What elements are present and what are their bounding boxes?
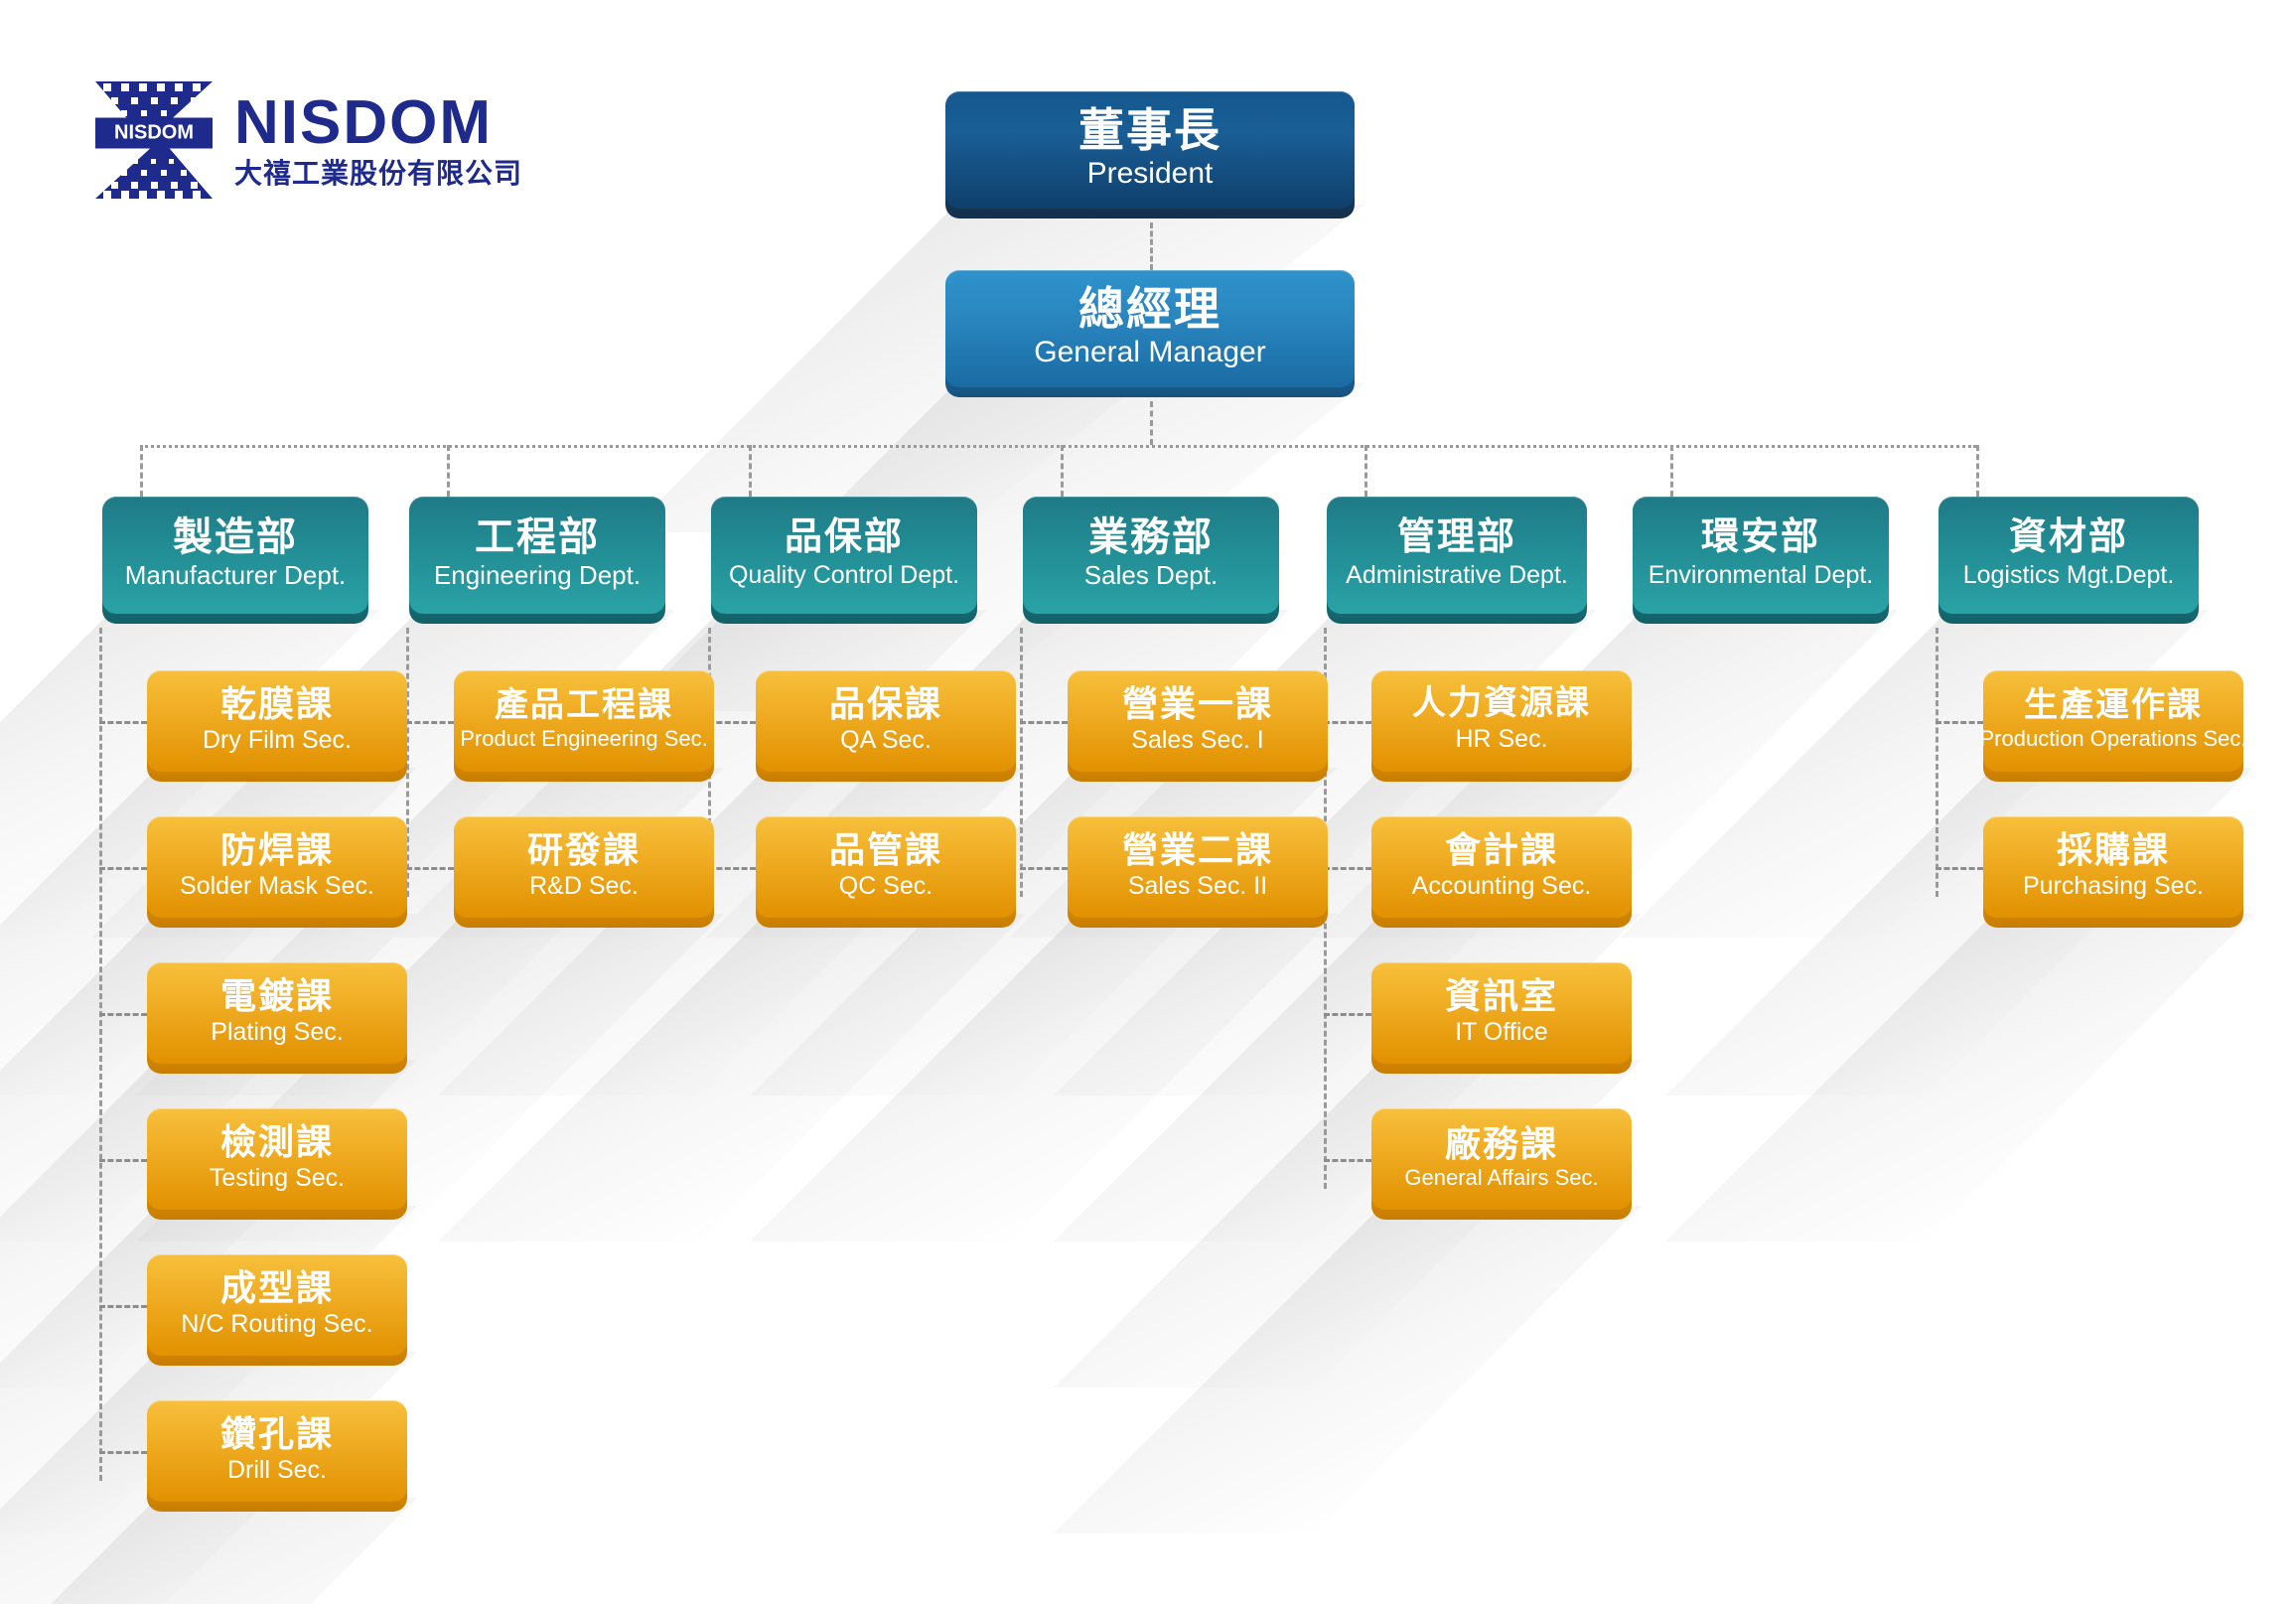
- node-section-5-3-label-en: IT Office: [1455, 1019, 1548, 1045]
- node-department-2[interactable]: 工程部Engineering Dept.: [409, 497, 665, 614]
- node-department-4[interactable]: 業務部Sales Dept.: [1023, 497, 1279, 614]
- node-department-1[interactable]: 製造部Manufacturer Dept.: [102, 497, 368, 614]
- company-logo: NISDOM NISDOM 大禧工業股份有限公司: [95, 81, 522, 199]
- node-section-5-4[interactable]: 廠務課General Affairs Sec.: [1371, 1108, 1632, 1210]
- node-department-1-label-en: Manufacturer Dept.: [125, 562, 347, 589]
- node-section-2-2-label-zh: 研發課: [527, 831, 641, 869]
- node-section-1-3[interactable]: 電鍍課Plating Sec.: [147, 962, 407, 1064]
- node-section-1-6-label-en: Drill Sec.: [227, 1457, 327, 1483]
- node-section-1-6-label-zh: 鑽孔課: [220, 1415, 334, 1453]
- node-section-3-2[interactable]: 品管課QC Sec.: [756, 816, 1016, 918]
- node-department-5-label-en: Administrative Dept.: [1346, 562, 1568, 588]
- node-department-3[interactable]: 品保部Quality Control Dept.: [711, 497, 977, 614]
- node-section-7-2-label-en: Purchasing Sec.: [2023, 873, 2204, 899]
- connector-stub: [708, 867, 756, 870]
- node-section-1-1[interactable]: 乾膜課Dry Film Sec.: [147, 670, 407, 772]
- node-section-3-1-label-en: QA Sec.: [840, 727, 932, 753]
- node-section-2-2[interactable]: 研發課R&D Sec.: [454, 816, 714, 918]
- connector-stub: [1324, 1159, 1371, 1162]
- logo-company-name-cn: 大禧工業股份有限公司: [234, 160, 522, 188]
- node-section-5-1[interactable]: 人力資源課HR Sec.: [1371, 670, 1632, 772]
- node-section-1-2-label-zh: 防焊課: [220, 831, 334, 869]
- node-section-5-4-label-zh: 廠務課: [1445, 1125, 1558, 1163]
- node-section-4-2[interactable]: 營業二課Sales Sec. II: [1068, 816, 1328, 918]
- connector-vertical: [140, 445, 143, 497]
- connector-vertical: [1020, 628, 1023, 897]
- node-section-5-2-label-en: Accounting Sec.: [1412, 873, 1592, 899]
- node-section-1-3-label-en: Plating Sec.: [211, 1019, 343, 1045]
- connector-stub: [1936, 721, 1983, 724]
- node-section-3-1-label-zh: 品保課: [829, 685, 942, 723]
- node-department-5[interactable]: 管理部Administrative Dept.: [1327, 497, 1587, 614]
- node-section-4-1-label-en: Sales Sec. I: [1131, 727, 1263, 753]
- node-department-7-label-zh: 資材部: [2009, 518, 2128, 558]
- node-president[interactable]: 董事長President: [945, 91, 1355, 209]
- node-section-4-2-label-en: Sales Sec. II: [1128, 873, 1267, 899]
- node-section-1-1-label-en: Dry Film Sec.: [203, 727, 352, 753]
- node-department-3-label-zh: 品保部: [785, 518, 904, 558]
- connector-vertical: [1150, 222, 1153, 270]
- connector-vertical: [99, 628, 102, 1481]
- connector-stub: [406, 721, 454, 724]
- connector-vertical: [1061, 445, 1064, 497]
- connector-stub: [1324, 867, 1371, 870]
- node-section-4-1[interactable]: 營業一課Sales Sec. I: [1068, 670, 1328, 772]
- node-department-4-label-zh: 業務部: [1088, 516, 1214, 558]
- connector-stub: [1936, 867, 1983, 870]
- node-section-3-2-label-en: QC Sec.: [839, 873, 933, 899]
- node-section-1-4-label-zh: 檢測課: [220, 1123, 334, 1161]
- connector-vertical: [447, 445, 450, 497]
- connector-vertical: [749, 445, 752, 497]
- node-section-7-1-label-en: Production Operations Sec.: [1979, 727, 2246, 750]
- connector-stub: [99, 1451, 147, 1454]
- node-president-label-zh: 董事長: [1078, 106, 1221, 154]
- node-section-7-1[interactable]: 生產運作課Production Operations Sec.: [1983, 670, 2243, 772]
- node-president-label-en: President: [1087, 158, 1214, 190]
- node-section-5-1-label-en: HR Sec.: [1455, 726, 1547, 752]
- node-section-1-6[interactable]: 鑽孔課Drill Sec.: [147, 1400, 407, 1502]
- logo-mark-text: NISDOM: [95, 117, 213, 148]
- node-section-3-2-label-zh: 品管課: [829, 831, 942, 869]
- logo-brand-name: NISDOM: [234, 92, 522, 154]
- connector-stub: [99, 721, 147, 724]
- node-section-2-1[interactable]: 產品工程課Product Engineering Sec.: [454, 670, 714, 772]
- connector-stub: [99, 1159, 147, 1162]
- connector-vertical: [1936, 628, 1938, 897]
- connector-stub: [1324, 1013, 1371, 1016]
- connector-stub: [708, 721, 756, 724]
- connector-stub: [99, 1305, 147, 1308]
- node-section-7-1-label-zh: 生產運作課: [2024, 688, 2203, 724]
- node-department-6-label-en: Environmental Dept.: [1649, 562, 1874, 588]
- node-section-4-1-label-zh: 營業一課: [1122, 685, 1273, 723]
- node-department-7-label-en: Logistics Mgt.Dept.: [1963, 562, 2175, 588]
- node-section-3-1[interactable]: 品保課QA Sec.: [756, 670, 1016, 772]
- logo-mark-icon: NISDOM: [95, 81, 213, 199]
- node-department-3-label-en: Quality Control Dept.: [729, 562, 959, 588]
- node-section-2-1-label-zh: 產品工程課: [495, 688, 673, 724]
- connector-stub: [1324, 721, 1371, 724]
- node-section-2-2-label-en: R&D Sec.: [529, 873, 639, 899]
- node-section-5-2[interactable]: 會計課Accounting Sec.: [1371, 816, 1632, 918]
- node-section-1-3-label-zh: 電鍍課: [220, 977, 334, 1015]
- node-section-5-3[interactable]: 資訊室IT Office: [1371, 962, 1632, 1064]
- connector-vertical: [1670, 445, 1673, 497]
- org-chart-canvas: NISDOM NISDOM 大禧工業股份有限公司 董事長President總經理…: [0, 0, 2296, 1604]
- node-section-7-2[interactable]: 採購課Purchasing Sec.: [1983, 816, 2243, 918]
- connector-bus: [140, 445, 1976, 448]
- node-section-1-1-label-zh: 乾膜課: [220, 685, 334, 723]
- connector-vertical: [1364, 445, 1367, 497]
- node-section-5-2-label-zh: 會計課: [1445, 831, 1558, 869]
- connector-stub: [406, 867, 454, 870]
- node-section-5-3-label-zh: 資訊室: [1445, 977, 1558, 1015]
- connector-stub: [1020, 867, 1068, 870]
- node-section-2-1-label-en: Product Engineering Sec.: [460, 727, 708, 750]
- connector-stub: [99, 1013, 147, 1016]
- node-section-1-5-label-zh: 成型課: [220, 1269, 334, 1307]
- connector-vertical: [1976, 445, 1979, 497]
- node-section-5-1-label-zh: 人力資源課: [1412, 686, 1591, 722]
- node-department-6[interactable]: 環安部Environmental Dept.: [1633, 497, 1889, 614]
- node-department-5-label-zh: 管理部: [1397, 518, 1516, 558]
- node-department-2-label-en: Engineering Dept.: [434, 562, 641, 589]
- node-general-manager[interactable]: 總經理General Manager: [945, 270, 1355, 387]
- node-section-1-4-label-en: Testing Sec.: [210, 1165, 345, 1191]
- connector-stub: [1020, 721, 1068, 724]
- node-department-2-label-zh: 工程部: [475, 516, 600, 558]
- node-section-1-4[interactable]: 檢測課Testing Sec.: [147, 1108, 407, 1210]
- connector-stub: [99, 867, 147, 870]
- node-section-4-2-label-zh: 營業二課: [1122, 831, 1273, 869]
- connector-vertical: [1150, 401, 1153, 445]
- node-section-7-2-label-zh: 採購課: [2057, 831, 2170, 869]
- node-general-manager-label-zh: 總經理: [1078, 285, 1221, 333]
- node-section-1-2[interactable]: 防焊課Solder Mask Sec.: [147, 816, 407, 918]
- node-department-4-label-en: Sales Dept.: [1084, 562, 1218, 589]
- node-section-1-5-label-en: N/C Routing Sec.: [181, 1311, 372, 1337]
- node-department-6-label-zh: 環安部: [1701, 518, 1820, 558]
- node-section-5-4-label-en: General Affairs Sec.: [1404, 1166, 1598, 1189]
- node-department-7[interactable]: 資材部Logistics Mgt.Dept.: [1938, 497, 2199, 614]
- node-department-1-label-zh: 製造部: [173, 516, 298, 558]
- node-general-manager-label-en: General Manager: [1034, 337, 1265, 368]
- node-section-1-2-label-en: Solder Mask Sec.: [180, 873, 374, 899]
- node-section-1-5[interactable]: 成型課N/C Routing Sec.: [147, 1254, 407, 1356]
